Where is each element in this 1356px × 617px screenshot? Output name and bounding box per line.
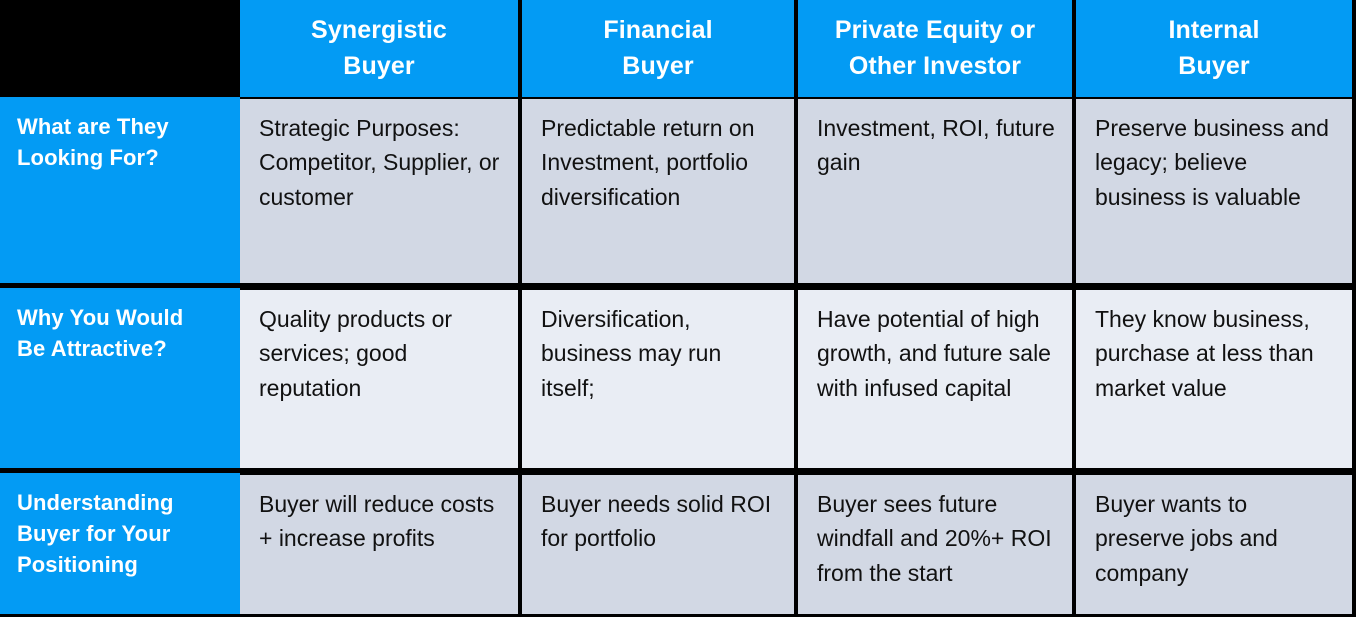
column-header-line2: Other Investor xyxy=(835,49,1035,85)
table-right-border xyxy=(1352,0,1356,617)
table-cell: Diversification, business may run itself… xyxy=(522,290,794,468)
table-cell: Preserve business and legacy; believe bu… xyxy=(1076,99,1352,283)
row-label-line2: Buyer for Your xyxy=(17,518,240,549)
column-header-synergistic-buyer: Synergistic Buyer xyxy=(240,0,518,97)
column-header-line1: Synergistic xyxy=(311,13,447,49)
table-cell: Investment, ROI, future gain xyxy=(798,99,1072,283)
table-cell: Buyer sees future windfall and 20%+ ROI … xyxy=(798,475,1072,614)
table-cell: Buyer wants to preserve jobs and company xyxy=(1076,475,1352,614)
table-cell: They know business, purchase at less tha… xyxy=(1076,290,1352,468)
row-label-line2: Looking For? xyxy=(17,142,240,173)
row-label-what-are-they-looking-for: What are They Looking For? xyxy=(0,97,240,283)
table-cell: Buyer needs solid ROI for portfolio xyxy=(522,475,794,614)
table-corner-cell xyxy=(0,0,240,97)
table-cell: Quality products or services; good reput… xyxy=(240,290,518,468)
row-label-line2: Be Attractive? xyxy=(17,333,240,364)
column-header-line1: Private Equity or xyxy=(835,13,1035,49)
column-header-line1: Financial xyxy=(603,13,712,49)
column-header-line1: Internal xyxy=(1168,13,1259,49)
comparison-table: Synergistic Buyer Financial Buyer Privat… xyxy=(0,0,1356,617)
column-header-line2: Buyer xyxy=(311,49,447,85)
row-label-why-you-would-be-attractive: Why You Would Be Attractive? xyxy=(0,288,240,468)
row-label-line3: Positioning xyxy=(17,549,240,580)
column-header-private-equity-or-other-investor: Private Equity or Other Investor xyxy=(798,0,1072,97)
table-cell: Strategic Purposes: Competitor, Supplier… xyxy=(240,99,518,283)
row-label-understanding-buyer-for-your-positioning: Understanding Buyer for Your Positioning xyxy=(0,473,240,614)
row-label-line1: Why You Would xyxy=(17,302,240,333)
table-cell: Buyer will reduce costs + increase profi… xyxy=(240,475,518,614)
column-header-financial-buyer: Financial Buyer xyxy=(522,0,794,97)
column-header-line2: Buyer xyxy=(1168,49,1259,85)
column-header-internal-buyer: Internal Buyer xyxy=(1076,0,1352,97)
table-cell: Have potential of high growth, and futur… xyxy=(798,290,1072,468)
row-label-line1: Understanding xyxy=(17,487,240,518)
column-header-line2: Buyer xyxy=(603,49,712,85)
row-label-line1: What are They xyxy=(17,111,240,142)
table-cell: Predictable return on Investment, portfo… xyxy=(522,99,794,283)
